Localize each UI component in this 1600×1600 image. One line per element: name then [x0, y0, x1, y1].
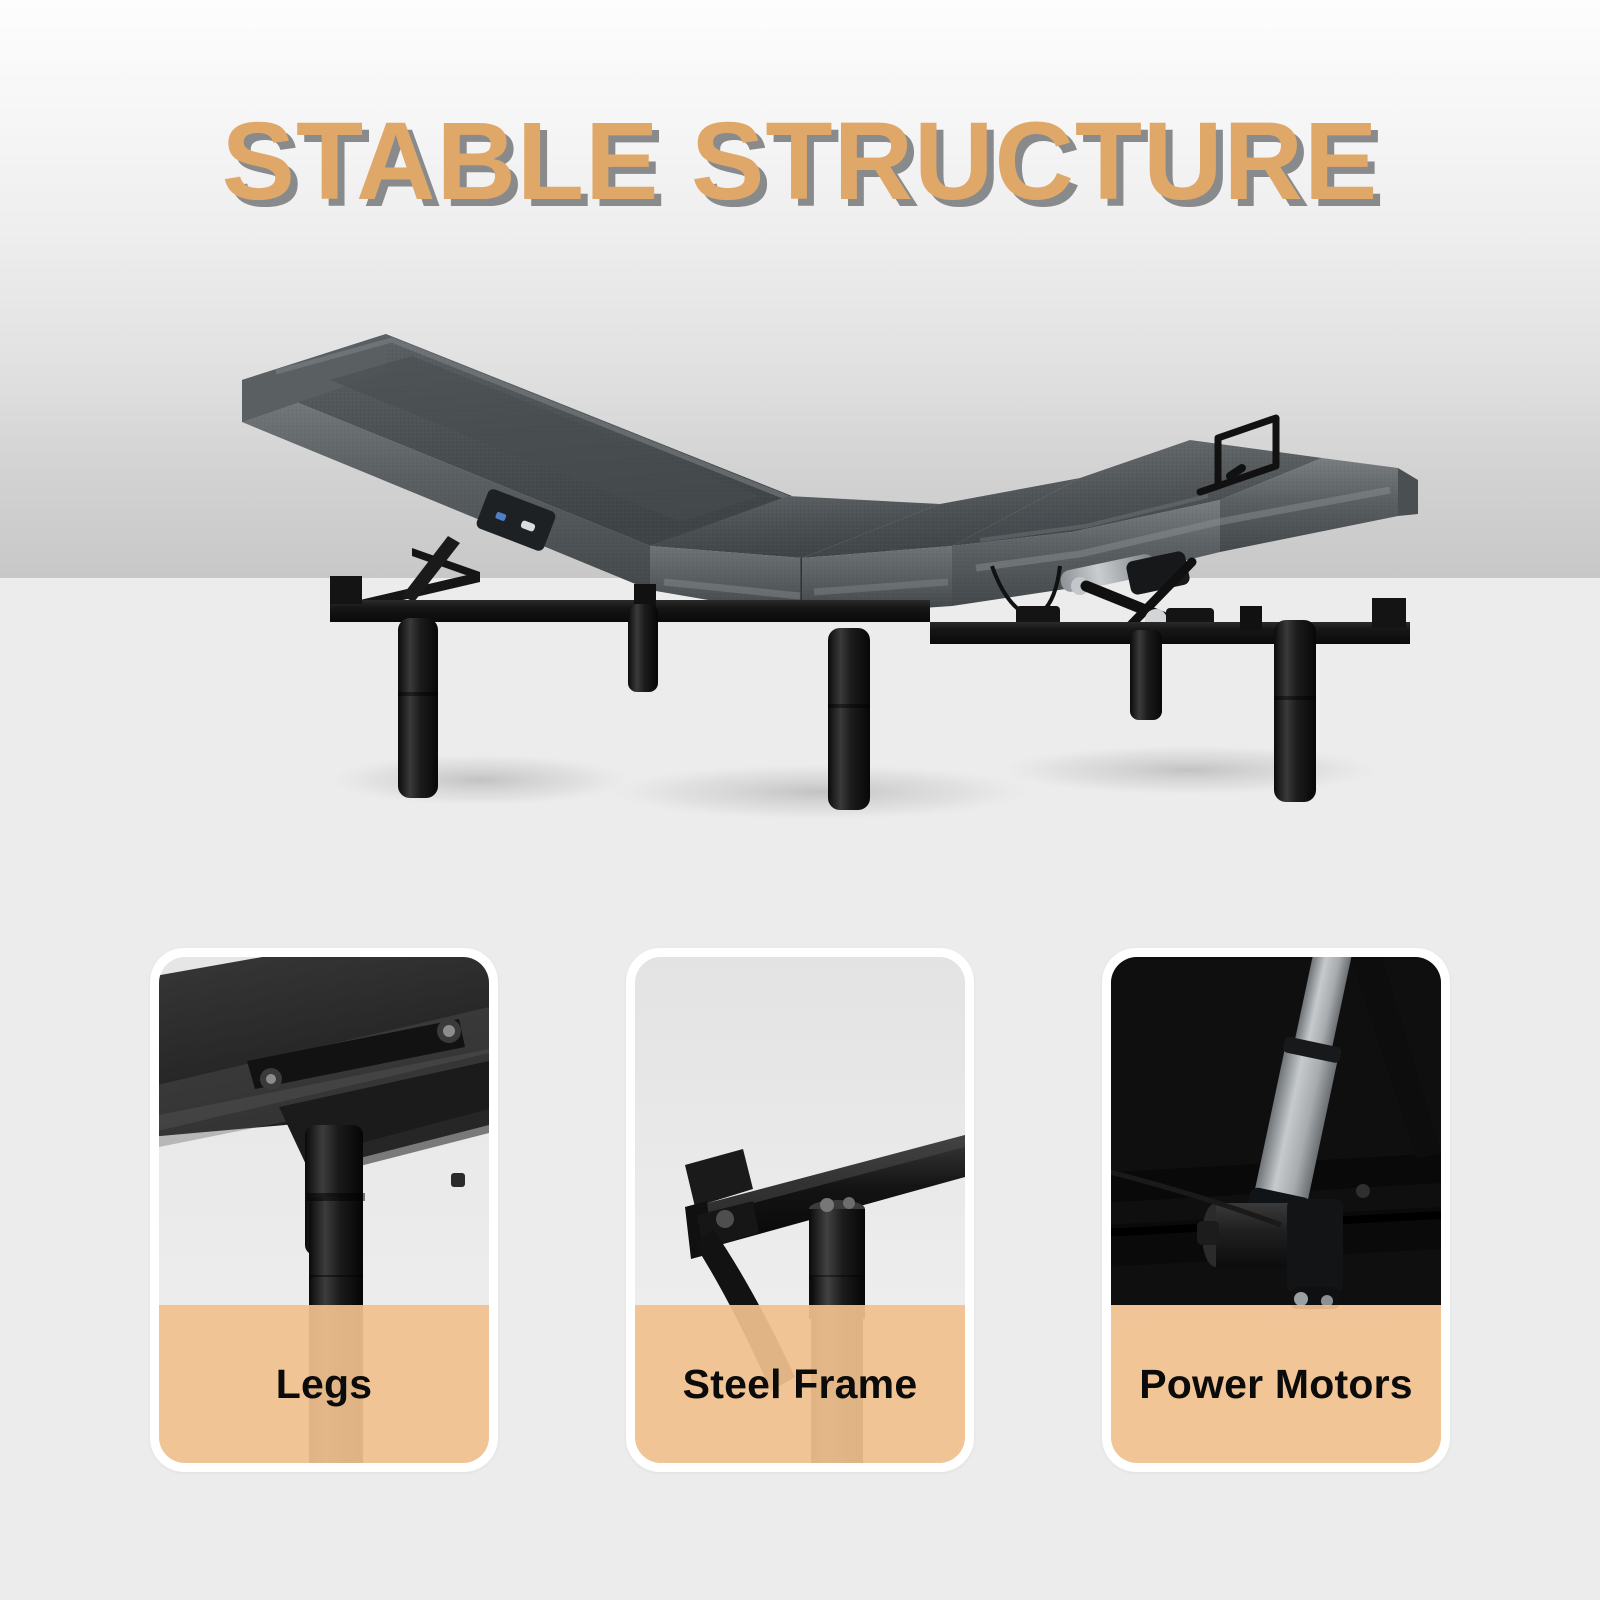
feature-card-legs[interactable]: Legs	[150, 948, 498, 1472]
feature-card-steel-frame[interactable]: Steel Frame	[626, 948, 974, 1472]
feature-card-steel-frame-band: Steel Frame	[635, 1305, 965, 1463]
feature-card-legs-label: Legs	[276, 1364, 373, 1405]
feature-card-power-motors-label: Power Motors	[1139, 1364, 1413, 1405]
feature-card-legs-band: Legs	[159, 1305, 489, 1463]
feature-card-row: Legs	[150, 948, 1450, 1476]
feature-card-power-motors-band: Power Motors	[1111, 1305, 1441, 1463]
banner-stage: STABLE STRUCTURE	[0, 0, 1600, 1600]
feature-card-power-motors-inner: Power Motors	[1111, 957, 1441, 1463]
hero-product-image	[180, 300, 1460, 840]
feature-card-steel-frame-label: Steel Frame	[683, 1364, 918, 1405]
steel-rail	[360, 536, 480, 610]
feature-card-steel-frame-inner: Steel Frame	[635, 957, 965, 1463]
feature-card-legs-inner: Legs	[159, 957, 489, 1463]
feature-card-power-motors[interactable]: Power Motors	[1102, 948, 1450, 1472]
